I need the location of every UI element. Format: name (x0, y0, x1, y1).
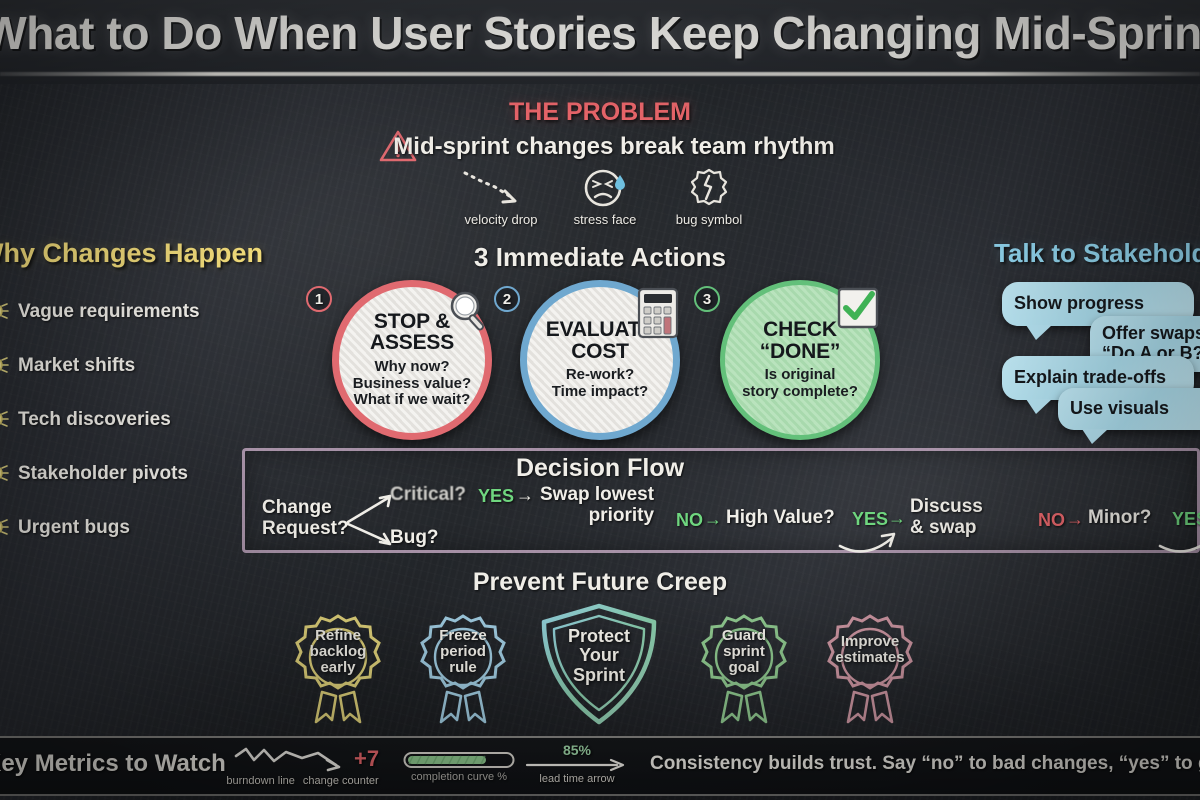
problem-icon-caption: bug symbol (676, 212, 742, 227)
chalkboard-infographic: What to Do When User Stories Keep Changi… (0, 0, 1200, 800)
stakeholder-bubble-text: Explain trade-offs (1002, 368, 1178, 388)
action-question: What if we wait? (354, 392, 471, 409)
prevent-badge-label: Freeze period rule (405, 590, 521, 724)
why-changes-item: Urgent bugs (0, 501, 234, 555)
prevent-badge-label: Improve estimates (812, 586, 928, 724)
action-number-badge: 2 (494, 286, 520, 312)
prevent-badge-line: backlog (310, 644, 367, 660)
prevent-badge-line: sprint (723, 644, 765, 660)
lightbulb-icon (0, 407, 10, 433)
lead-time-arrow-icon (525, 758, 629, 772)
metric-burndown-group: +7 burndown line change counter (232, 744, 379, 787)
flow-arrow-4: → (1066, 509, 1084, 530)
flow-curve-arrow-1-icon (838, 524, 910, 554)
stakeholder-bubble-text: Use visuals (1058, 399, 1181, 419)
lightbulb-icon (0, 461, 10, 487)
action-question: Re-work? (566, 367, 634, 384)
flow-node-minor: Minor? (1088, 508, 1151, 529)
metric-lead-time-value: 85% (563, 742, 591, 758)
flow-node-high-value: High Value? (726, 508, 835, 529)
problem-subheading: Mid-sprint changes break team rhythm (393, 133, 834, 161)
stakeholder-bubble-text: Offer swaps (1090, 324, 1200, 344)
flow-start-line: Change (262, 498, 349, 519)
prevent-badge-line: Guard (722, 628, 766, 644)
flow-branch-critical: Critical? (390, 485, 466, 506)
action-card-3[interactable]: 3 CHECK “DONE” Is original story complet… (720, 280, 880, 440)
prevent-badge-line: Sprint (573, 666, 625, 685)
prevent-badge-protect-sprint[interactable]: Protect Your Sprint (534, 600, 664, 728)
stakeholders-heading: Talk to Stakeholders (994, 238, 1200, 269)
metric-caption-completion: completion curve % (411, 771, 507, 783)
why-changes-item: Market shifts (0, 339, 234, 393)
prevent-badge-freeze-period[interactable]: Freeze period rule (405, 608, 521, 724)
lightbulb-icon (0, 515, 10, 541)
flow-label-no-1: NO (676, 510, 703, 531)
magnifier-icon (446, 288, 492, 334)
action-question: story complete? (742, 384, 858, 401)
prevent-badge-line: Your (579, 646, 619, 665)
prevent-badge-label: Guard sprint goal (686, 590, 802, 724)
why-changes-item: Stakeholder pivots (0, 447, 234, 501)
page-title: What to Do When User Stories Keep Changi… (0, 6, 1200, 60)
velocity-drop-arrow-icon (461, 167, 541, 209)
lightbulb-icon (0, 299, 10, 325)
checkmark-box-icon (836, 286, 880, 330)
prevent-badge-label: Protect Your Sprint (534, 594, 664, 728)
prevent-badge-line: Freeze (439, 628, 487, 644)
flow-node-line: Swap lowest (540, 485, 654, 506)
problem-icon-row: velocity drop stress face (455, 165, 755, 227)
bug-gear-icon (687, 166, 731, 210)
stakeholder-bubble-text: Show progress (1002, 294, 1156, 314)
prevent-badge-line: early (320, 660, 355, 676)
metric-lead-time-group: 85% lead time arrow (525, 742, 629, 785)
problem-heading: THE PROBLEM (509, 98, 691, 127)
problem-icon-caption: stress face (574, 212, 637, 227)
prevent-badge-guard-sprint-goal[interactable]: Guard sprint goal (686, 608, 802, 724)
why-changes-item: Tech discoveries (0, 393, 234, 447)
metric-change-counter-value: +7 (354, 746, 379, 772)
actions-heading: 3 Immediate Actions (474, 242, 726, 273)
prevent-badge-line: Protect (568, 627, 630, 646)
action-question: Time impact? (552, 384, 648, 401)
flow-arrow-2: → (704, 509, 722, 530)
action-card-1[interactable]: 1 STOP & ASSESS Why now? Business value?… (332, 280, 492, 440)
flow-curve-arrow-2-icon (1158, 524, 1200, 554)
lightbulb-icon (0, 353, 10, 379)
metric-completion-group: completion curve % (403, 750, 515, 783)
action-title-line: COST (571, 341, 629, 362)
metric-caption-burndown: burndown line (226, 775, 295, 787)
flow-node-line: Discuss (910, 497, 983, 518)
action-title-line: STOP & (374, 311, 450, 332)
action-number-badge: 3 (694, 286, 720, 312)
prevent-badge-line: goal (729, 660, 760, 676)
decision-flow-heading: Decision Flow (516, 454, 684, 483)
problem-icon-caption: velocity drop (465, 212, 538, 227)
prevent-badge-line: Improve (841, 634, 899, 650)
calculator-icon (636, 286, 680, 340)
why-changes-heading: Why Changes Happen (0, 238, 228, 269)
prevent-badge-line: Refine (315, 628, 361, 644)
prevent-badge-line: rule (449, 660, 477, 676)
flow-start-node: Change Request? (262, 498, 349, 539)
flow-node-swap-lowest: Swap lowest priority (540, 485, 654, 526)
action-card-2[interactable]: 2 EVALUATE COST Re-work? Time impact? (520, 280, 680, 440)
action-question: Why now? (375, 359, 450, 376)
prevent-badge-line: estimates (835, 650, 904, 666)
why-changes-item-label: Urgent bugs (18, 517, 130, 539)
why-changes-item-label: Market shifts (18, 355, 135, 377)
flow-label-yes-1: YES (478, 486, 514, 507)
problem-icon-stress-face: stress face (559, 166, 651, 227)
why-changes-list: Vague requirements Market shifts Tech di… (0, 285, 234, 555)
why-changes-item: Vague requirements (0, 285, 234, 339)
action-title-line: ASSESS (370, 332, 454, 353)
why-changes-item-label: Stakeholder pivots (18, 463, 188, 485)
prevent-badge-refine-backlog[interactable]: Refine backlog early (280, 608, 396, 724)
action-title-line: CHECK (763, 319, 837, 340)
flow-node-line: & swap (910, 518, 983, 539)
decision-flow-row: Change Request? Critical? Bug? YES → Swa… (248, 484, 1200, 550)
flow-node-discuss-swap: Discuss & swap (910, 497, 983, 538)
action-question: Business value? (353, 376, 471, 393)
prevent-badge-line: period (440, 644, 486, 660)
flow-node-line: priority (540, 506, 654, 527)
action-question: Is original (765, 367, 836, 384)
metric-caption-lead-time: lead time arrow (539, 773, 614, 785)
flow-start-line: Request? (262, 519, 349, 540)
metrics-tagline: Consistency builds trust. Say “no” to ba… (650, 753, 1200, 775)
completion-bar-icon (403, 750, 515, 770)
prevent-badge-label: Refine backlog early (280, 590, 396, 724)
prevent-badge-improve-estimates[interactable]: Improve estimates (812, 608, 928, 724)
flow-arrow-1: → (516, 486, 534, 505)
metric-caption-change-counter: change counter (303, 775, 379, 787)
stress-face-icon (582, 166, 628, 210)
action-number-badge: 1 (306, 286, 332, 312)
action-title-line: “DONE” (760, 341, 840, 362)
flow-label-no-2: NO (1038, 510, 1065, 531)
title-underline (0, 72, 1200, 76)
flow-branch-bug: Bug? (390, 528, 439, 549)
why-changes-item-label: Vague requirements (18, 301, 200, 323)
stakeholder-bubble-use-visuals[interactable]: Use visuals (1058, 388, 1200, 430)
problem-icon-velocity-drop: velocity drop (455, 166, 547, 227)
metrics-heading: Key Metrics to Watch (0, 750, 224, 778)
problem-icon-bug-symbol: bug symbol (663, 166, 755, 227)
why-changes-item-label: Tech discoveries (18, 409, 171, 431)
